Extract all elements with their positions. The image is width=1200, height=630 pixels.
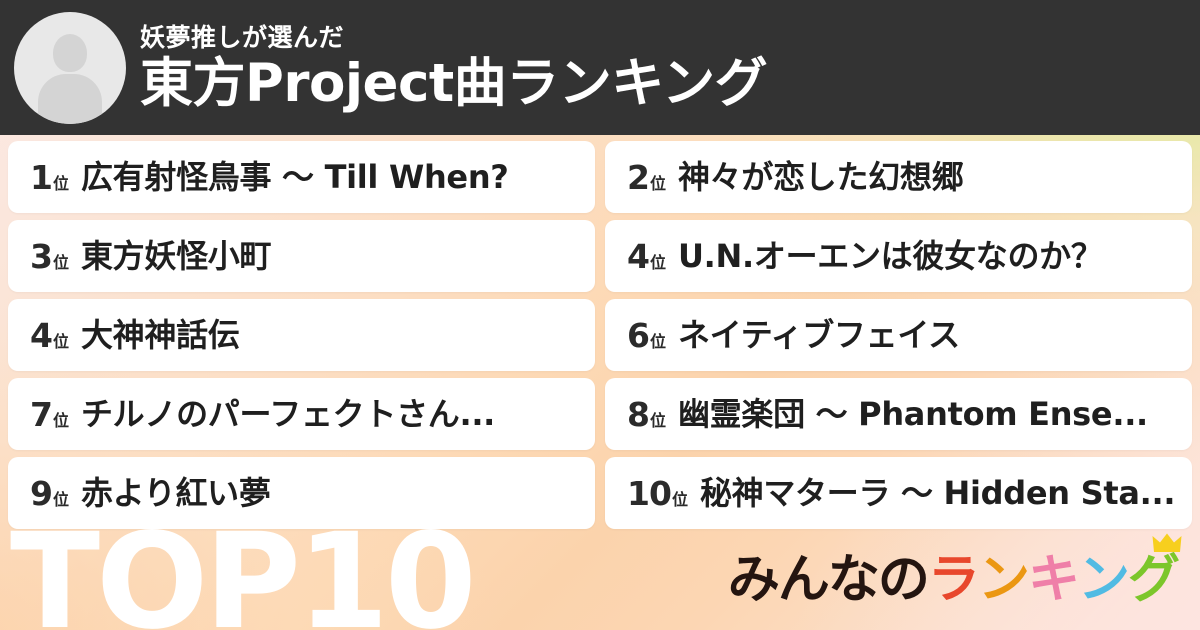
ranking-item-rank-unit: 位 <box>53 334 69 350</box>
minna-no-ranking-logo[interactable]: みんなの ラ ン キ ン グ <box>728 542 1178 606</box>
ranking-item-rank: 1位 <box>30 161 69 194</box>
ranking-item-rank-number: 1 <box>30 161 52 194</box>
ranking-item-rank-number: 6 <box>627 319 649 352</box>
ranking-item-title: 神々が恋した幻想郷 <box>678 159 963 196</box>
ranking-item-title: チルノのパーフェクトさん... <box>81 396 495 433</box>
ranking-item-title: U.N.オーエンは彼女なのか？ <box>678 238 1103 275</box>
ranking-item[interactable]: 4位U.N.オーエンは彼女なのか？ <box>605 220 1192 292</box>
ranking-item-title: 広有射怪鳥事 ～ Till When? <box>81 159 509 196</box>
ranking-item[interactable]: 3位東方妖怪小町 <box>8 220 595 292</box>
ranking-item-rank: 4位 <box>30 319 69 352</box>
logo-dark-text: みんなの <box>728 554 928 606</box>
ranking-item-rank-number: 3 <box>30 240 52 273</box>
logo-char-gu-wrap: グ <box>1128 554 1178 606</box>
avatar-body-shape <box>38 74 102 124</box>
ranking-item-rank-unit: 位 <box>650 413 666 429</box>
ranking-item-title: 東方妖怪小町 <box>81 238 271 275</box>
ranking-item-title: 幽霊楽団 ～ Phantom Ense... <box>678 396 1148 433</box>
page-title: 東方Project曲ランキング <box>140 54 767 113</box>
ranking-item-rank-unit: 位 <box>650 255 666 271</box>
ranking-item-rank-unit: 位 <box>53 413 69 429</box>
footer-bar: TOP10 みんなの ラ ン キ ン グ <box>0 505 1200 630</box>
ranking-item-rank-number: 7 <box>30 398 52 431</box>
ranking-item-rank: 3位 <box>30 240 69 273</box>
ranking-ogp-canvas: 妖夢推しが選んだ 東方Project曲ランキング 1位広有射怪鳥事 ～ Till… <box>0 0 1200 630</box>
header-text-block: 妖夢推しが選んだ 東方Project曲ランキング <box>140 22 767 113</box>
ranking-item[interactable]: 4位大神神話伝 <box>8 299 595 371</box>
ranking-item[interactable]: 8位幽霊楽団 ～ Phantom Ense... <box>605 378 1192 450</box>
logo-char-gu: グ <box>1128 550 1178 610</box>
logo-char-ki: キ <box>1028 554 1078 606</box>
ranking-item[interactable]: 6位ネイティブフェイス <box>605 299 1192 371</box>
avatar-head-shape <box>53 34 87 72</box>
ranking-item-rank: 4位 <box>627 240 666 273</box>
ranking-item-rank-unit: 位 <box>650 176 666 192</box>
ranking-item-rank-unit: 位 <box>53 255 69 271</box>
ranking-item-title: 大神神話伝 <box>81 317 240 354</box>
ranking-item-rank: 7位 <box>30 398 69 431</box>
ranking-item-rank-number: 8 <box>627 398 649 431</box>
ranking-item-rank-number: 4 <box>627 240 649 273</box>
ranking-item[interactable]: 1位広有射怪鳥事 ～ Till When? <box>8 141 595 213</box>
header-subtitle: 妖夢推しが選んだ <box>140 24 767 52</box>
logo-char-ra: ラ <box>928 554 978 606</box>
ranking-list: 1位広有射怪鳥事 ～ Till When?2位神々が恋した幻想郷3位東方妖怪小町… <box>8 141 1192 529</box>
ranking-item[interactable]: 2位神々が恋した幻想郷 <box>605 141 1192 213</box>
ranking-item-rank-unit: 位 <box>650 334 666 350</box>
logo-char-n2: ン <box>1078 554 1128 606</box>
ranking-item-rank: 6位 <box>627 319 666 352</box>
ranking-item-rank-unit: 位 <box>53 176 69 192</box>
ranking-item-rank: 8位 <box>627 398 666 431</box>
crown-icon <box>1152 533 1182 554</box>
top10-label: TOP10 <box>10 516 473 630</box>
ranking-item[interactable]: 7位チルノのパーフェクトさん... <box>8 378 595 450</box>
user-avatar-placeholder-icon <box>14 12 126 124</box>
header-bar: 妖夢推しが選んだ 東方Project曲ランキング <box>0 0 1200 135</box>
logo-char-n1: ン <box>978 554 1028 606</box>
ranking-item-rank: 2位 <box>627 161 666 194</box>
ranking-item-rank-number: 2 <box>627 161 649 194</box>
ranking-item-title: ネイティブフェイス <box>678 317 960 354</box>
ranking-item-rank-number: 4 <box>30 319 52 352</box>
